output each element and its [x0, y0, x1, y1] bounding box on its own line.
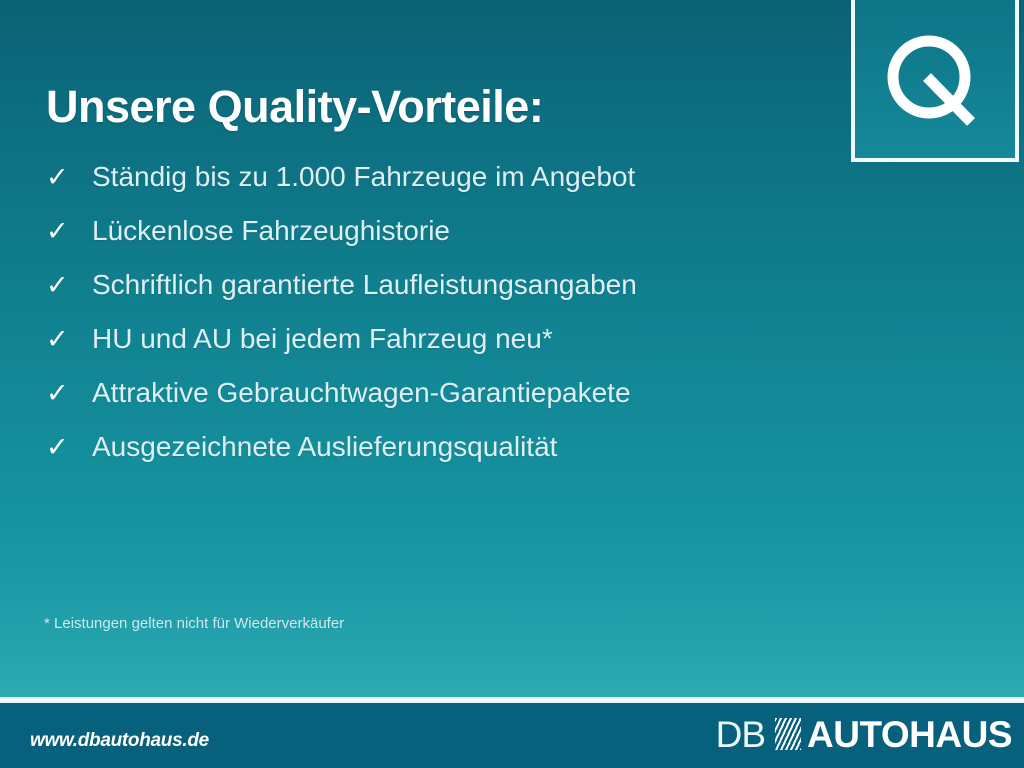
list-item: ✓ HU und AU bei jedem Fahrzeug neu*: [46, 325, 826, 379]
quality-seal-box: [851, 0, 1019, 162]
brand-prefix-label: DB: [716, 716, 765, 753]
quality-q-icon: [855, 4, 1015, 166]
list-item-label: Schriftlich garantierte Laufleistungsang…: [92, 271, 637, 299]
benefits-list: ✓ Ständig bis zu 1.000 Fahrzeuge im Ange…: [46, 163, 826, 487]
website-url[interactable]: www.dbautohaus.de: [30, 730, 209, 752]
list-item-label: HU und AU bei jedem Fahrzeug neu*: [92, 325, 553, 353]
footnote-text: * Leistungen gelten nicht für Wiederverk…: [44, 615, 344, 632]
check-icon: ✓: [46, 272, 92, 299]
check-icon: ✓: [46, 434, 92, 461]
list-item: ✓ Ständig bis zu 1.000 Fahrzeuge im Ange…: [46, 163, 826, 217]
list-item: ✓ Schriftlich garantierte Laufleistungsa…: [46, 271, 826, 325]
list-item-label: Attraktive Gebrauchtwagen-Garantiepakete: [92, 379, 631, 407]
quality-benefits-slide: Unsere Quality-Vorteile: ✓ Ständig bis z…: [0, 0, 1024, 768]
list-item: ✓ Ausgezeichnete Auslieferungsqualität: [46, 433, 826, 487]
list-item: ✓ Attraktive Gebrauchtwagen-Garantiepake…: [46, 379, 826, 433]
check-icon: ✓: [46, 380, 92, 407]
check-icon: ✓: [46, 218, 92, 245]
list-item-label: Ausgezeichnete Auslieferungsqualität: [92, 433, 557, 461]
list-item: ✓ Lückenlose Fahrzeughistorie: [46, 217, 826, 271]
brand-name-label: AUTOHAUS: [807, 716, 1012, 753]
brand-logo: DB AUTOHAUS: [716, 714, 1012, 754]
page-title: Unsere Quality-Vorteile:: [46, 82, 543, 132]
check-icon: ✓: [46, 326, 92, 353]
check-icon: ✓: [46, 164, 92, 191]
list-item-label: Ständig bis zu 1.000 Fahrzeuge im Angebo…: [92, 163, 635, 191]
brand-stripes-icon: [775, 718, 801, 750]
list-item-label: Lückenlose Fahrzeughistorie: [92, 217, 450, 245]
